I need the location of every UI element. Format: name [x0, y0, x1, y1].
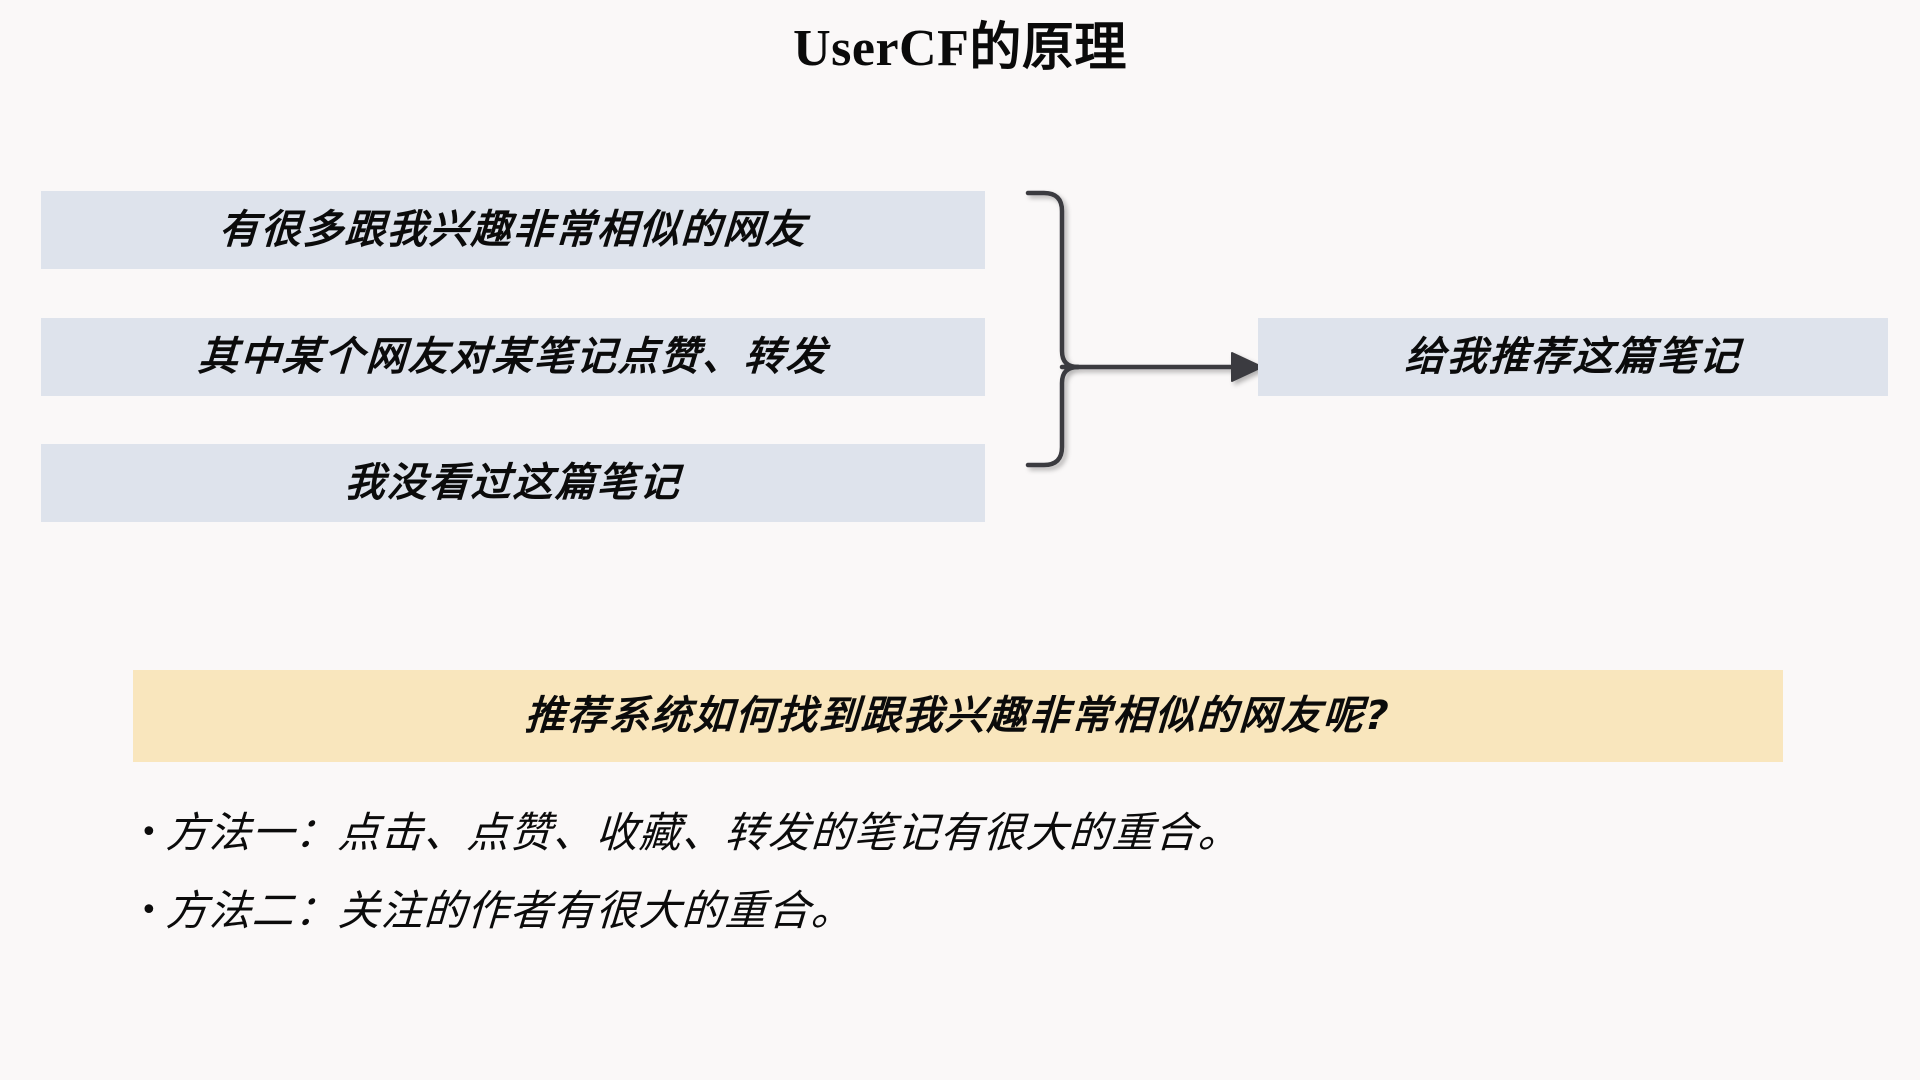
result-box-label: 给我推荐这篇笔记	[1404, 333, 1743, 381]
condition-box-3-label: 我没看过这篇笔记	[344, 459, 683, 507]
condition-box-2: 其中某个网友对某笔记点赞、转发	[41, 318, 985, 396]
list-item: • 方法二：关注的作者有很大的重合。	[140, 878, 1840, 944]
question-highlight-banner: 推荐系统如何找到跟我兴趣非常相似的网友呢?	[133, 670, 1783, 762]
curly-brace-arrow-icon	[1000, 175, 1265, 475]
curly-brace-arrow-svg	[1000, 175, 1265, 475]
slide-canvas: UserCF的原理 有很多跟我兴趣非常相似的网友 其中某个网友对某笔记点赞、转发…	[0, 0, 1920, 1080]
question-text: 推荐系统如何找到跟我兴趣非常相似的网友呢?	[524, 692, 1392, 740]
condition-box-2-label: 其中某个网友对某笔记点赞、转发	[197, 333, 830, 381]
bullet-dot-icon: •	[140, 878, 166, 944]
page-title: UserCF的原理	[0, 18, 1920, 80]
condition-box-1: 有很多跟我兴趣非常相似的网友	[41, 191, 985, 269]
bullet-dot-icon: •	[140, 800, 166, 866]
method-2-label: 方法二：关注的作者有很大的重合。	[164, 878, 855, 944]
methods-list: • 方法一：点击、点赞、收藏、转发的笔记有很大的重合。 • 方法二：关注的作者有…	[140, 800, 1840, 956]
list-item: • 方法一：点击、点赞、收藏、转发的笔记有很大的重合。	[140, 800, 1840, 866]
method-1-label: 方法一：点击、点赞、收藏、转发的笔记有很大的重合。	[164, 800, 1242, 866]
result-box: 给我推荐这篇笔记	[1258, 318, 1888, 396]
condition-box-1-label: 有很多跟我兴趣非常相似的网友	[218, 206, 809, 254]
condition-box-3: 我没看过这篇笔记	[41, 444, 985, 522]
